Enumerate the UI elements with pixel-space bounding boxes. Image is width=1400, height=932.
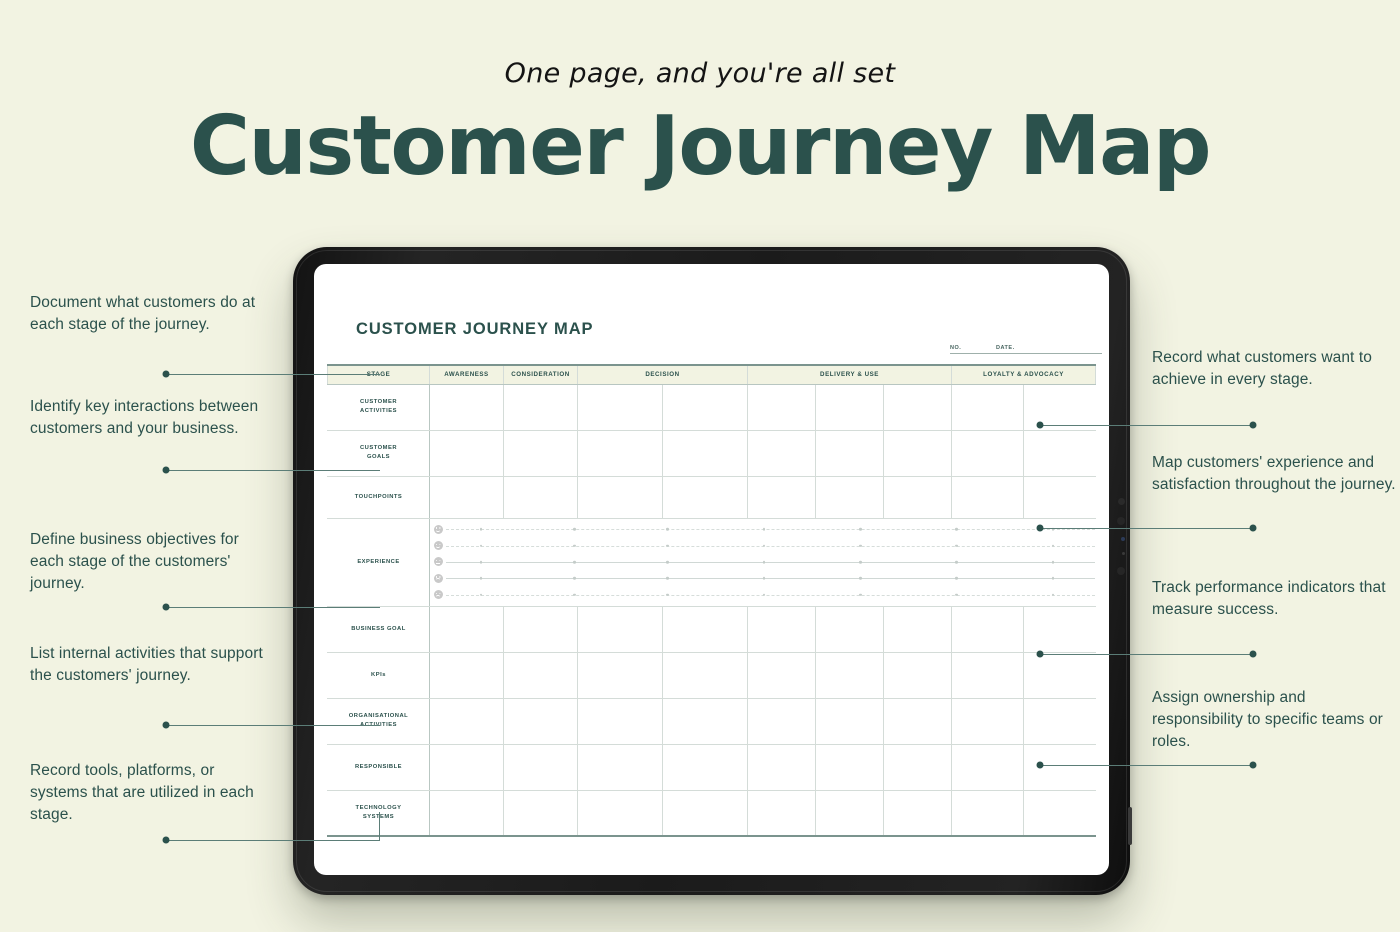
- experience-point-marker[interactable]: [763, 593, 766, 596]
- cell[interactable]: [430, 476, 504, 518]
- experience-point-marker[interactable]: [955, 577, 958, 580]
- experience-point-marker[interactable]: [573, 561, 576, 564]
- cell[interactable]: [578, 652, 663, 698]
- cell[interactable]: [952, 790, 1024, 836]
- row-label-responsible: RESPONSIBLE: [328, 744, 430, 790]
- experience-point-marker[interactable]: [763, 528, 766, 531]
- experience-track-solid: [446, 562, 1095, 563]
- leader-node-right-3b: [1250, 651, 1257, 658]
- table-header-row: STAGE AWARENESS CONSIDERATION DECISION D…: [328, 365, 1096, 384]
- cell[interactable]: [884, 652, 952, 698]
- cell[interactable]: [430, 652, 504, 698]
- experience-scale-row[interactable]: [430, 556, 1095, 567]
- cell[interactable]: [816, 790, 884, 836]
- annotation-left-4: List internal activities that support th…: [30, 643, 270, 687]
- row-label-organisational-activities: ORGANISATIONALACTIVITIES: [328, 698, 430, 744]
- row-label-customer-activities: CUSTOMERACTIVITIES: [328, 384, 430, 430]
- experience-track-solid: [446, 578, 1095, 579]
- table-row: TECHNOLOGYSYSTEMS: [328, 790, 1096, 836]
- experience-point-marker[interactable]: [666, 544, 669, 547]
- leader-vertical-left-5: [379, 812, 380, 841]
- experience-track-dashed: [446, 595, 1095, 596]
- sheet-title: CUSTOMER JOURNEY MAP: [356, 320, 593, 339]
- leader-node-right-2b: [1250, 525, 1257, 532]
- cell[interactable]: [663, 430, 748, 476]
- experience-point-marker[interactable]: [480, 528, 483, 531]
- leader-node-right-2a: [1037, 525, 1044, 532]
- cell[interactable]: [748, 698, 816, 744]
- experience-point-marker[interactable]: [1052, 593, 1055, 596]
- table-row: RESPONSIBLE: [328, 744, 1096, 790]
- table-row: BUSINESS GOAL: [328, 606, 1096, 652]
- cell[interactable]: [748, 430, 816, 476]
- experience-point-marker[interactable]: [666, 528, 669, 531]
- experience-point-marker[interactable]: [763, 544, 766, 547]
- tablet-device: CUSTOMER JOURNEY MAP NO. DATE. STAGE AWA…: [293, 247, 1130, 895]
- annotation-left-1: Document what customers do at each stage…: [30, 292, 270, 336]
- experience-point-marker[interactable]: [573, 528, 576, 531]
- annotation-left-5: Record tools, platforms, or systems that…: [30, 760, 270, 826]
- volume-button[interactable]: [1128, 807, 1132, 845]
- tagline: One page, and you're all set: [0, 58, 1400, 89]
- cell[interactable]: [748, 744, 816, 790]
- cell[interactable]: [748, 384, 816, 430]
- experience-scale-row[interactable]: [430, 524, 1095, 535]
- annotation-right-4: Assign ownership and responsibility to s…: [1152, 687, 1396, 753]
- table-row: TOUCHPOINTS: [328, 476, 1096, 518]
- cell[interactable]: [504, 384, 578, 430]
- cell[interactable]: [816, 476, 884, 518]
- cell[interactable]: [952, 698, 1024, 744]
- leader-line-left-1: [166, 374, 380, 375]
- cell[interactable]: [430, 698, 504, 744]
- meta-date-label: DATE.: [996, 345, 1015, 351]
- camera-lens-2-icon: [1117, 567, 1125, 575]
- experience-point-marker[interactable]: [1052, 577, 1055, 580]
- cell[interactable]: [748, 652, 816, 698]
- cell[interactable]: [816, 384, 884, 430]
- cell[interactable]: [816, 652, 884, 698]
- cell[interactable]: [504, 698, 578, 744]
- cell[interactable]: [430, 384, 504, 430]
- cell[interactable]: [748, 790, 816, 836]
- experience-point-marker[interactable]: [573, 593, 576, 596]
- row-label-business-goal: BUSINESS GOAL: [328, 606, 430, 652]
- leader-line-left-2: [166, 470, 380, 471]
- cell[interactable]: [1024, 744, 1096, 790]
- table-row-experience: EXPERIENCE: [328, 518, 1096, 606]
- cell[interactable]: [430, 744, 504, 790]
- table-row: ORGANISATIONALACTIVITIES: [328, 698, 1096, 744]
- cell[interactable]: [816, 744, 884, 790]
- experience-point-marker[interactable]: [666, 593, 669, 596]
- leader-line-left-3: [166, 607, 380, 608]
- cell[interactable]: [663, 652, 748, 698]
- experience-point-marker[interactable]: [955, 528, 958, 531]
- col-header-loyalty-advocacy: LOYALTY & ADVOCACY: [952, 365, 1096, 384]
- cell[interactable]: [952, 652, 1024, 698]
- cell[interactable]: [952, 430, 1024, 476]
- row-label-kpis: KPIs: [328, 652, 430, 698]
- cell[interactable]: [884, 790, 952, 836]
- leader-node-left-4: [163, 722, 170, 729]
- experience-point-marker[interactable]: [859, 528, 862, 531]
- experience-scale-row[interactable]: [430, 589, 1095, 600]
- cell[interactable]: [504, 476, 578, 518]
- neutral-face-icon: [434, 557, 443, 566]
- annotation-left-3: Define business objectives for each stag…: [30, 529, 270, 595]
- experience-track-dashed: [446, 529, 1095, 530]
- tablet-screen[interactable]: CUSTOMER JOURNEY MAP NO. DATE. STAGE AWA…: [314, 264, 1109, 875]
- experience-point-marker[interactable]: [859, 561, 862, 564]
- experience-point-marker[interactable]: [859, 593, 862, 596]
- experience-point-marker[interactable]: [763, 561, 766, 564]
- leader-line-right-3: [1040, 654, 1253, 655]
- cell[interactable]: [884, 606, 952, 652]
- cell[interactable]: [504, 606, 578, 652]
- leader-node-left-1: [163, 371, 170, 378]
- cell[interactable]: [952, 384, 1024, 430]
- leader-node-right-3a: [1037, 651, 1044, 658]
- cell[interactable]: [1024, 606, 1096, 652]
- leader-line-right-2: [1040, 528, 1253, 529]
- cell[interactable]: [816, 606, 884, 652]
- cell[interactable]: [952, 744, 1024, 790]
- cell[interactable]: [430, 790, 504, 836]
- table-row: KPIs: [328, 652, 1096, 698]
- sheet-meta-fields: NO. DATE.: [950, 340, 1102, 354]
- happy-face-icon: [434, 541, 443, 550]
- cell[interactable]: [663, 476, 748, 518]
- sensor-dot-icon: [1118, 498, 1125, 505]
- leader-line-left-4: [166, 725, 380, 726]
- page-title: Customer Journey Map: [0, 106, 1400, 188]
- cell[interactable]: [578, 790, 663, 836]
- col-header-awareness: AWARENESS: [430, 365, 504, 384]
- cell[interactable]: [663, 698, 748, 744]
- experience-point-marker[interactable]: [955, 593, 958, 596]
- leader-node-right-1a: [1037, 422, 1044, 429]
- experience-point-marker[interactable]: [1052, 544, 1055, 547]
- cell[interactable]: [663, 744, 748, 790]
- mic-hole-icon: [1122, 552, 1125, 555]
- experience-track-dashed: [446, 546, 1095, 547]
- col-header-consideration: CONSIDERATION: [504, 365, 578, 384]
- cell[interactable]: [1024, 476, 1096, 518]
- cell[interactable]: [578, 606, 663, 652]
- annotation-left-2: Identify key interactions between custom…: [30, 396, 270, 440]
- cell[interactable]: [816, 430, 884, 476]
- cell[interactable]: [1024, 790, 1096, 836]
- camera-lens-icon: [1117, 517, 1125, 525]
- cell[interactable]: [430, 430, 504, 476]
- experience-point-marker[interactable]: [573, 544, 576, 547]
- cell[interactable]: [504, 790, 578, 836]
- leader-line-right-1: [1040, 425, 1253, 426]
- leader-node-left-2: [163, 467, 170, 474]
- experience-point-marker[interactable]: [573, 577, 576, 580]
- cell[interactable]: [884, 698, 952, 744]
- col-header-decision: DECISION: [578, 365, 748, 384]
- annotation-right-1: Record what customers want to achieve in…: [1152, 347, 1396, 391]
- col-header-delivery-use: DELIVERY & USE: [748, 365, 952, 384]
- cell[interactable]: [952, 476, 1024, 518]
- cell[interactable]: [1024, 430, 1096, 476]
- very-sad-face-icon: [434, 590, 443, 599]
- cell[interactable]: [884, 384, 952, 430]
- cell[interactable]: [952, 606, 1024, 652]
- cell[interactable]: [884, 744, 952, 790]
- experience-point-marker[interactable]: [763, 577, 766, 580]
- leader-node-left-5: [163, 837, 170, 844]
- leader-line-left-5: [166, 840, 380, 841]
- cell[interactable]: [578, 744, 663, 790]
- experience-point-marker[interactable]: [666, 561, 669, 564]
- very-happy-face-icon: [434, 525, 443, 534]
- cell[interactable]: [884, 430, 952, 476]
- cell[interactable]: [748, 476, 816, 518]
- experience-scale: [430, 519, 1095, 606]
- leader-line-right-4: [1040, 765, 1253, 766]
- leader-node-left-3: [163, 604, 170, 611]
- experience-point-marker[interactable]: [955, 561, 958, 564]
- experience-point-marker[interactable]: [859, 544, 862, 547]
- experience-point-marker[interactable]: [859, 577, 862, 580]
- cell[interactable]: [504, 652, 578, 698]
- table-row: CUSTOMERACTIVITIES: [328, 384, 1096, 430]
- meta-no-label: NO.: [950, 345, 961, 351]
- cell[interactable]: [1024, 652, 1096, 698]
- experience-scale-row[interactable]: [430, 540, 1095, 551]
- cell[interactable]: [1024, 384, 1096, 430]
- leader-node-right-4b: [1250, 762, 1257, 769]
- cell[interactable]: [663, 606, 748, 652]
- cell[interactable]: [884, 476, 952, 518]
- annotation-right-2: Map customers' experience and satisfacti…: [1152, 452, 1396, 496]
- cell[interactable]: [1024, 698, 1096, 744]
- experience-chart-cell[interactable]: [430, 518, 1096, 606]
- row-label-touchpoints: TOUCHPOINTS: [328, 476, 430, 518]
- row-label-experience: EXPERIENCE: [328, 518, 430, 606]
- experience-point-marker[interactable]: [480, 544, 483, 547]
- experience-point-marker[interactable]: [955, 544, 958, 547]
- experience-point-marker[interactable]: [1052, 561, 1055, 564]
- experience-scale-row[interactable]: [430, 573, 1095, 584]
- cell[interactable]: [663, 790, 748, 836]
- experience-point-marker[interactable]: [480, 593, 483, 596]
- experience-point-marker[interactable]: [480, 577, 483, 580]
- cell[interactable]: [504, 744, 578, 790]
- indicator-led-icon: [1121, 537, 1125, 541]
- cell[interactable]: [578, 476, 663, 518]
- journey-map-sheet: CUSTOMER JOURNEY MAP NO. DATE. STAGE AWA…: [314, 264, 1109, 875]
- cell[interactable]: [663, 384, 748, 430]
- leader-node-right-4a: [1037, 762, 1044, 769]
- cell[interactable]: [504, 430, 578, 476]
- table-row: CUSTOMERGOALS: [328, 430, 1096, 476]
- experience-point-marker[interactable]: [480, 561, 483, 564]
- cell[interactable]: [578, 698, 663, 744]
- sad-face-icon: [434, 574, 443, 583]
- leader-node-right-1b: [1250, 422, 1257, 429]
- cell[interactable]: [430, 606, 504, 652]
- cell[interactable]: [748, 606, 816, 652]
- cell[interactable]: [578, 384, 663, 430]
- cell[interactable]: [816, 698, 884, 744]
- cell[interactable]: [578, 430, 663, 476]
- experience-point-marker[interactable]: [666, 577, 669, 580]
- annotation-right-3: Track performance indicators that measur…: [1152, 577, 1396, 621]
- customer-journey-table: STAGE AWARENESS CONSIDERATION DECISION D…: [327, 364, 1096, 837]
